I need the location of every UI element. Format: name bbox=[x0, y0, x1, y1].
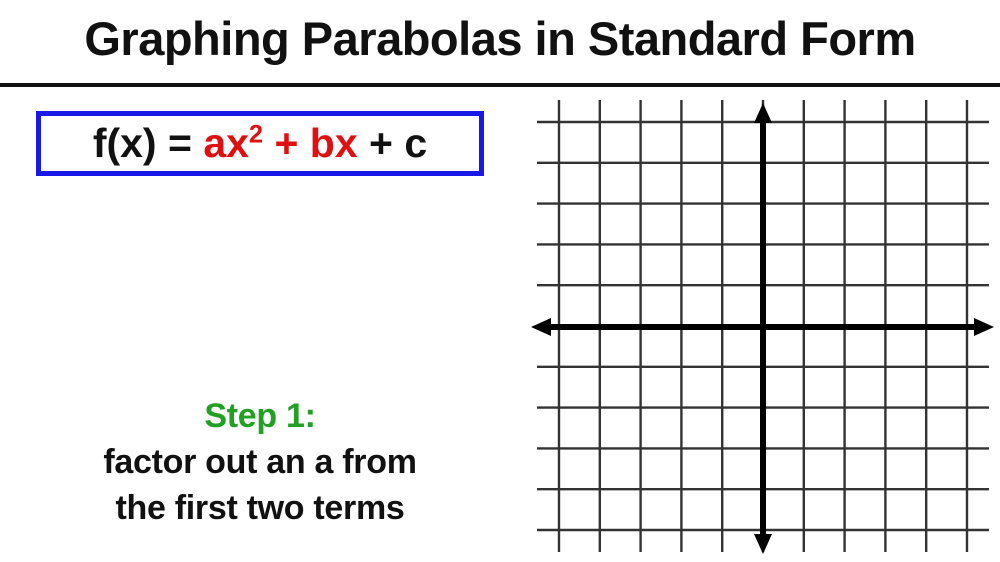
formula-constant-term: + c bbox=[358, 120, 428, 166]
step-label: Step 1: bbox=[20, 393, 500, 439]
formula-box: f(x) = ax2 + bx + c bbox=[36, 111, 484, 176]
step-description-line-2: the first two terms bbox=[20, 485, 500, 531]
title-divider bbox=[0, 83, 1000, 87]
coordinate-plane-graph bbox=[525, 90, 1000, 562]
x-axis-arrow-right-icon bbox=[974, 318, 994, 336]
y-axis-arrow-up-icon bbox=[754, 103, 772, 123]
y-axis-arrow-down-icon bbox=[754, 534, 772, 554]
graph-svg bbox=[525, 90, 1000, 562]
standard-form-formula: f(x) = ax2 + bx + c bbox=[93, 123, 427, 164]
step-instruction-block: Step 1: factor out an a from the first t… bbox=[20, 393, 500, 531]
formula-prefix: f(x) = bbox=[93, 120, 204, 166]
formula-quadratic-term: ax bbox=[203, 120, 249, 166]
formula-linear-term: + bx bbox=[263, 120, 358, 166]
step-description-line-1: factor out an a from bbox=[20, 439, 500, 485]
page-title: Graphing Parabolas in Standard Form bbox=[0, 8, 1000, 70]
formula-exponent: 2 bbox=[249, 120, 263, 148]
x-axis-arrow-left-icon bbox=[531, 318, 551, 336]
